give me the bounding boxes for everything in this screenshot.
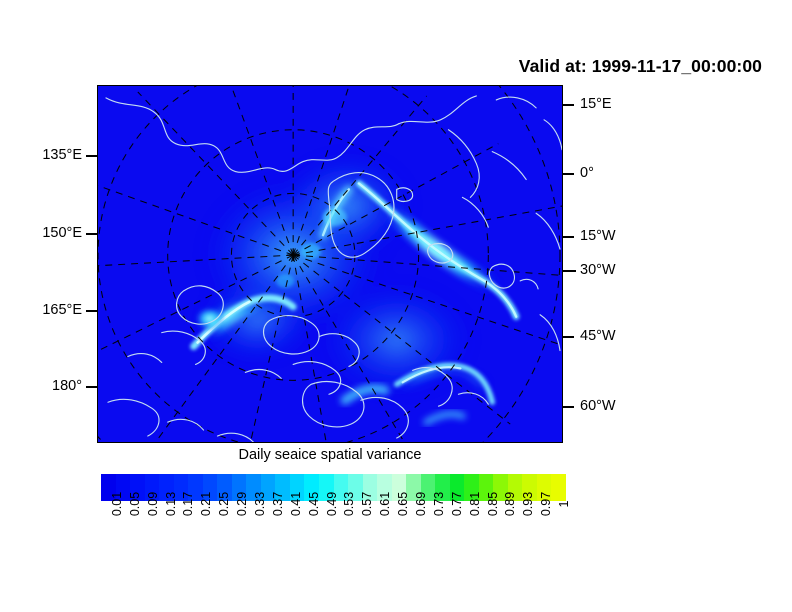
colorbar-tick-label: 0.33 <box>253 492 267 516</box>
axis-right-label-0: 15°E <box>580 97 612 112</box>
tick-left-1 <box>86 233 97 235</box>
tick-left-0 <box>86 155 97 157</box>
colorbar-tick-label: 0.77 <box>450 492 464 516</box>
colorbar-tick-label: 0.41 <box>289 492 303 516</box>
axis-right-label-5: 60°W <box>580 399 616 414</box>
axis-left-label-3: 180° <box>0 379 82 394</box>
colorbar-ticklabels: 0.010.050.090.130.170.210.250.290.330.37… <box>101 504 566 564</box>
colorbar-tick-label: 0.49 <box>325 492 339 516</box>
colorbar-tick-label: 0.01 <box>110 492 124 516</box>
axis-right-label-4: 45°W <box>580 329 616 344</box>
colorbar-tick-label: 0.17 <box>181 492 195 516</box>
colorbar-tick-label: 0.29 <box>235 492 249 516</box>
tick-left-3 <box>86 386 97 388</box>
polar-map <box>98 86 562 442</box>
axis-right-label-2: 15°W <box>580 229 616 244</box>
figure-canvas: Valid at: 1999-11-17_00:00:00 <box>0 0 792 612</box>
axis-right-label-3: 30°W <box>580 263 616 278</box>
colorbar-tick-label: 0.09 <box>146 492 160 516</box>
map-caption: Daily seaice spatial variance <box>97 447 563 463</box>
colorbar-tick-label: 0.53 <box>342 492 356 516</box>
tick-right-0 <box>563 104 574 106</box>
colorbar-tick-label: 0.81 <box>468 492 482 516</box>
colorbar-tick-label: 0.25 <box>217 492 231 516</box>
tick-right-4 <box>563 336 574 338</box>
colorbar-swatch <box>551 474 566 501</box>
colorbar-tick-label: 0.37 <box>271 492 285 516</box>
tick-right-5 <box>563 406 574 408</box>
colorbar-tick-label: 0.69 <box>414 492 428 516</box>
page-title: Valid at: 1999-11-17_00:00:00 <box>519 56 762 77</box>
axis-left-label-2: 165°E <box>0 303 82 318</box>
colorbar-tick-label: 0.45 <box>307 492 321 516</box>
colorbar-tick-label: 1 <box>557 501 571 508</box>
tick-right-2 <box>563 236 574 238</box>
colorbar-tick-label: 0.57 <box>360 492 374 516</box>
axis-right-label-1: 0° <box>580 166 594 181</box>
colorbar-tick-label: 0.65 <box>396 492 410 516</box>
axis-left-label-1: 150°E <box>0 226 82 241</box>
axis-left-label-0: 135°E <box>0 148 82 163</box>
colorbar-tick-label: 0.89 <box>503 492 517 516</box>
tick-right-3 <box>563 270 576 272</box>
colorbar-tick-label: 0.13 <box>164 492 178 516</box>
colorbar-tick-label: 0.85 <box>486 492 500 516</box>
colorbar-tick-label: 0.21 <box>199 492 213 516</box>
colorbar-tick-label: 0.93 <box>521 492 535 516</box>
tick-left-2 <box>86 310 97 312</box>
colorbar-tick-label: 0.73 <box>432 492 446 516</box>
colorbar-tick-label: 0.97 <box>539 492 553 516</box>
map-panel[interactable] <box>97 85 563 443</box>
tick-right-1 <box>563 173 574 175</box>
colorbar-tick-label: 0.05 <box>128 492 142 516</box>
colorbar-tick-label: 0.61 <box>378 492 392 516</box>
